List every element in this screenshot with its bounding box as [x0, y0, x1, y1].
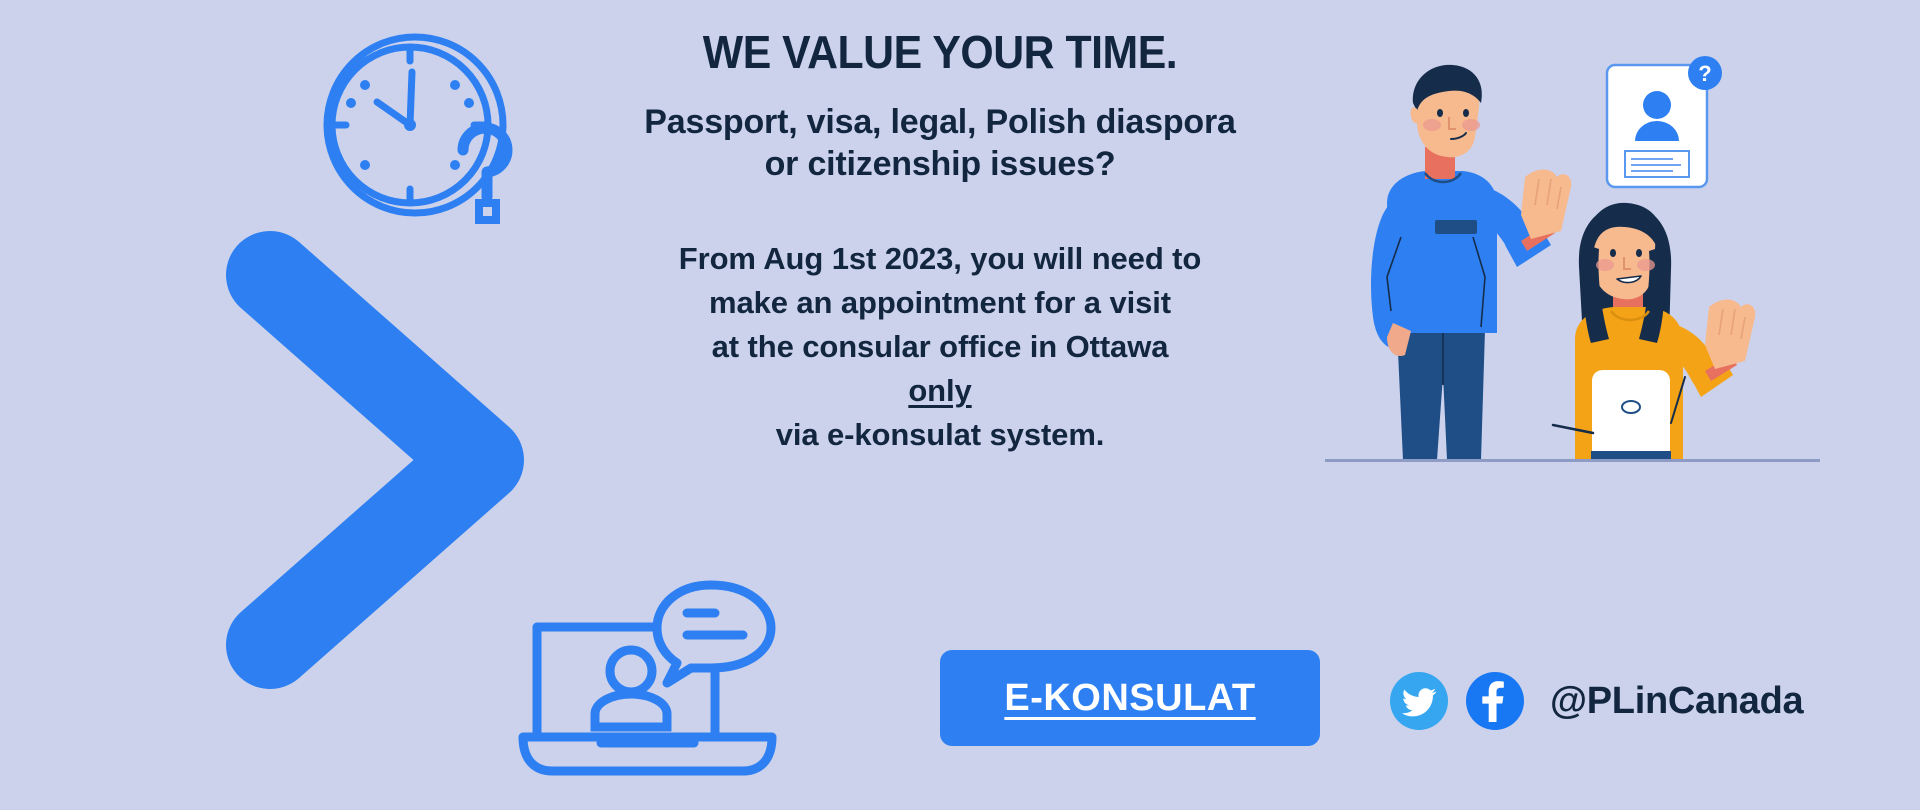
woman-with-laptop-illustration — [1553, 203, 1755, 460]
body-line-1: From Aug 1st 2023, you will need to — [520, 237, 1360, 281]
waving-man-illustration — [1371, 65, 1571, 460]
id-card-question-icon: ? — [1607, 56, 1722, 187]
page-title: WE VALUE YOUR TIME. — [549, 28, 1330, 76]
desk-line — [1325, 459, 1820, 462]
clock-question-icon — [315, 25, 530, 240]
effective-date: From Aug 1st 2023 — [679, 241, 954, 276]
svg-text:?: ? — [1698, 61, 1711, 86]
body-line-2: make an appointment for a visit — [520, 281, 1360, 325]
text-column: WE VALUE YOUR TIME. Passport, visa, lega… — [520, 28, 1360, 457]
subhead-line-2: or citizenship issues? — [520, 144, 1360, 185]
laptop-chat-icon — [515, 575, 780, 790]
body-copy: From Aug 1st 2023, you will need to make… — [520, 237, 1360, 457]
subhead: Passport, visa, legal, Polish diaspora o… — [520, 102, 1360, 185]
facebook-icon[interactable] — [1466, 672, 1524, 730]
social-row: @PLinCanada — [1390, 672, 1803, 730]
body-line-4: via e-konsulat system. — [520, 413, 1360, 457]
body-line-1-rest: , you will need to — [953, 241, 1201, 276]
chevron-right-icon — [225, 230, 525, 690]
subhead-line-1: Passport, visa, legal, Polish diaspora — [520, 102, 1360, 143]
e-konsulat-button[interactable]: E-KONSULAT — [940, 650, 1320, 746]
only-emphasis: only — [908, 373, 971, 408]
banner-root: WE VALUE YOUR TIME. Passport, visa, lega… — [0, 0, 1920, 810]
body-line-emphasis: only — [520, 369, 1360, 413]
social-handle: @PLinCanada — [1550, 680, 1803, 723]
people-illustration: ? — [1325, 55, 1845, 475]
twitter-icon[interactable] — [1390, 672, 1448, 730]
body-line-3: at the consular office in Ottawa — [520, 325, 1360, 369]
